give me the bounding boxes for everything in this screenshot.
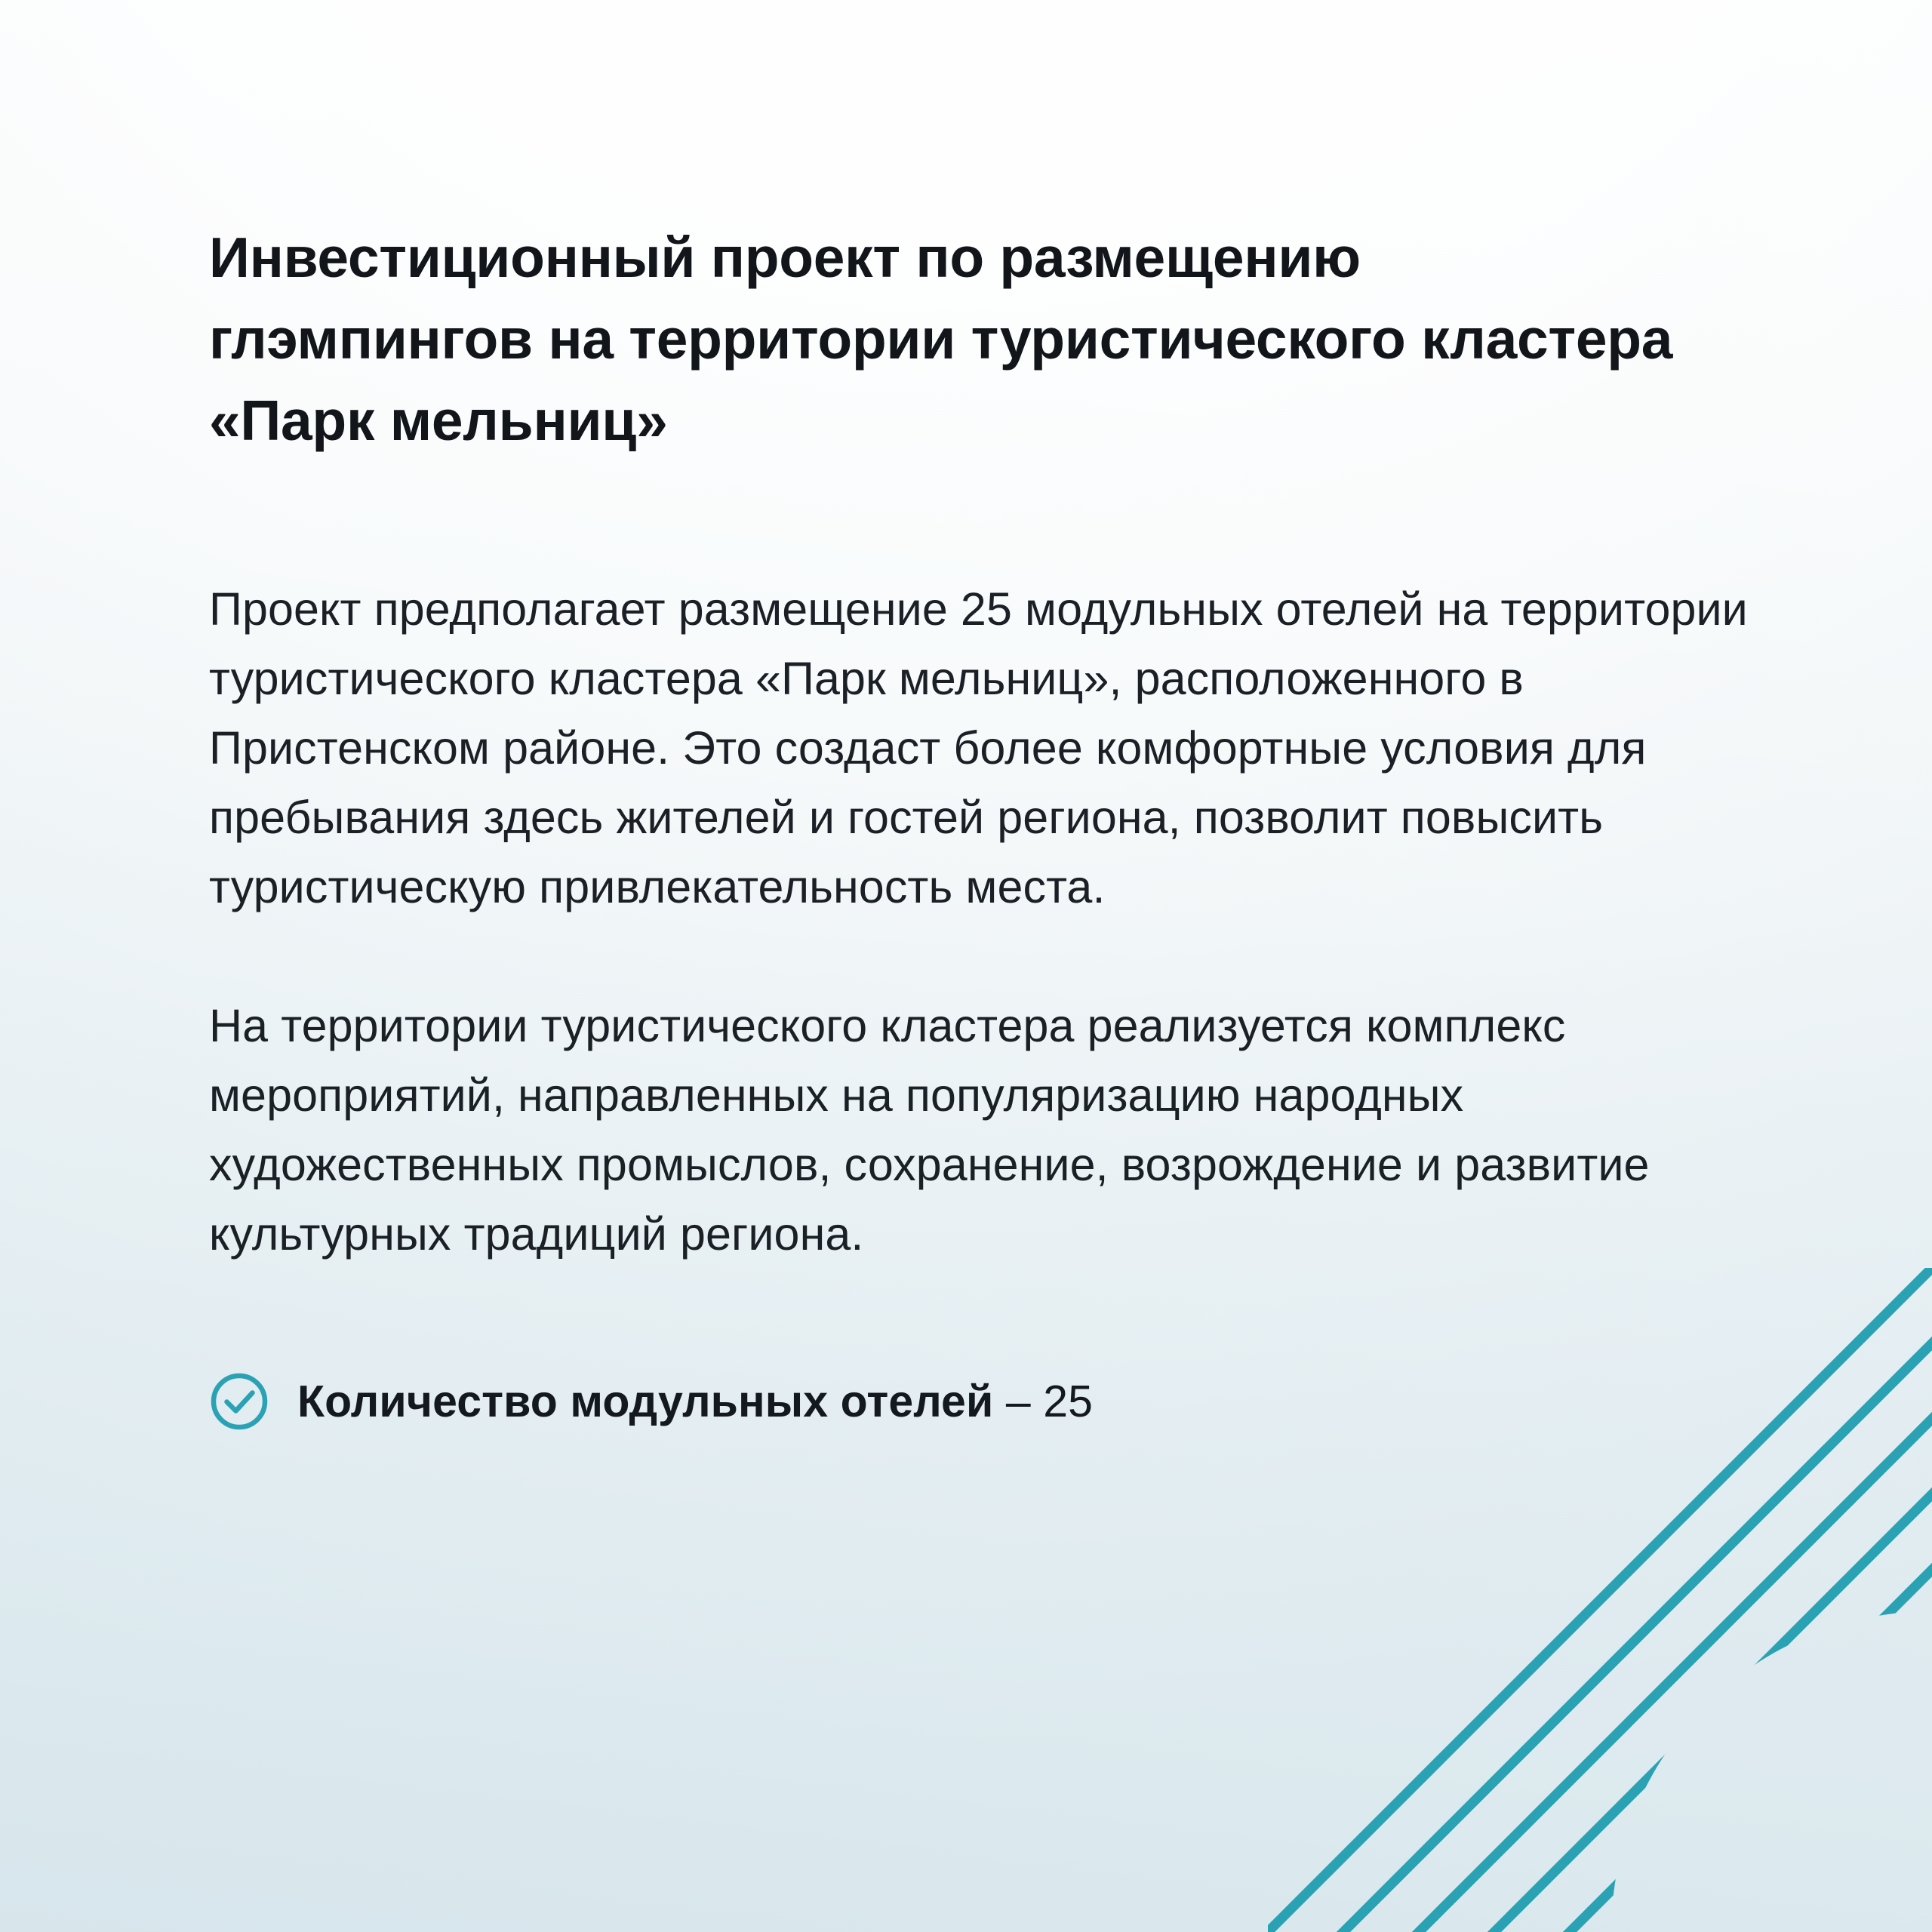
- fact-text: Количество модульных отелей – 25: [297, 1371, 1093, 1432]
- slide-card: Инвестиционный проект по размещению глэм…: [0, 0, 1932, 1932]
- description-block: Проект предполагает размещение 25 модуль…: [209, 574, 1749, 1269]
- page-title: Инвестиционный проект по размещению глэм…: [209, 217, 1688, 461]
- paragraph-1: Проект предполагает размещение 25 модуль…: [209, 574, 1749, 921]
- paragraph-2: На территории туристического кластера ре…: [209, 991, 1749, 1269]
- slide-content: Инвестиционный проект по размещению глэм…: [0, 217, 1932, 1432]
- fact-row: Количество модульных отелей – 25: [209, 1371, 1932, 1432]
- fact-value: – 25: [993, 1377, 1093, 1426]
- check-circle-icon: [209, 1371, 269, 1432]
- fact-label: Количество модульных отелей: [297, 1377, 993, 1426]
